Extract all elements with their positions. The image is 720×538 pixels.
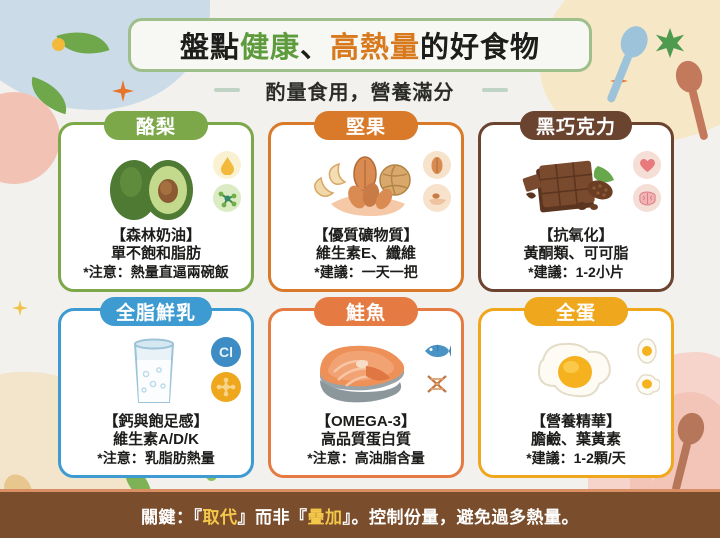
card-line-main: 【優質礦物質】 bbox=[313, 227, 418, 245]
card-whole-milk[interactable]: 全脂鮮乳 Cl bbox=[58, 308, 254, 478]
card-art-avocado bbox=[61, 149, 251, 223]
page-title: 盤點健康、高熱量的好食物 bbox=[180, 24, 540, 66]
card-icons-whole-egg bbox=[633, 337, 661, 398]
title-banner: 盤點健康、高熱量的好食物 bbox=[128, 18, 592, 72]
card-icons-dark-chocolate bbox=[633, 151, 661, 212]
card-icons-avocado bbox=[213, 151, 241, 212]
dna-icon bbox=[423, 370, 451, 398]
footer-part-3: 』而非『 bbox=[238, 508, 308, 527]
almond-icon bbox=[423, 151, 451, 179]
footer-message: 關鍵：『取代』而非『疊加』。控制份量，避免過多熱量。 bbox=[141, 503, 579, 528]
card-badge-salmon: 鮭魚 bbox=[314, 297, 418, 326]
card-art-whole-egg bbox=[481, 335, 671, 409]
card-text-nuts: 【優質礦物質】 維生素E、纖維 *建議：一天一把 bbox=[313, 227, 418, 281]
molecule-icon bbox=[213, 184, 241, 212]
salmon-steak-illustration bbox=[304, 336, 428, 408]
card-text-whole-egg: 【營養精華】 膽鹼、葉黃素 *建議：1-2顆/天 bbox=[526, 413, 626, 467]
cl-symbol-label: Cl bbox=[219, 344, 233, 360]
card-line-note: *注意：熱量直逼兩碗飯 bbox=[83, 264, 228, 281]
title-part-5: 的好食物 bbox=[420, 32, 540, 64]
card-line-note: *建議：1-2顆/天 bbox=[526, 450, 626, 467]
chocolate-bar-illustration bbox=[514, 150, 638, 222]
card-text-avocado: 【森林奶油】 單不飽和脂肪 *注意：熱量直逼兩碗飯 bbox=[83, 227, 228, 281]
card-line-sub: 高品質蛋白質 bbox=[307, 431, 424, 449]
card-line-note: *建議：1-2小片 bbox=[523, 264, 628, 281]
card-art-whole-milk: Cl bbox=[61, 335, 251, 409]
card-salmon[interactable]: 鮭魚 bbox=[268, 308, 464, 478]
card-line-note: *建議：一天一把 bbox=[313, 264, 418, 281]
brain-icon bbox=[633, 184, 661, 212]
card-art-nuts bbox=[271, 149, 461, 223]
heart-icon bbox=[633, 151, 661, 179]
card-line-main: 【抗氧化】 bbox=[523, 227, 628, 245]
fish-icon bbox=[423, 337, 451, 365]
star-icon bbox=[12, 300, 28, 316]
card-line-sub: 維生素A/D/K bbox=[97, 431, 214, 449]
card-nuts[interactable]: 堅果 bbox=[268, 122, 464, 292]
footer-part-5: 』。控制份量，避免過多熱量。 bbox=[343, 508, 580, 527]
card-line-sub: 黃酮類、可可脂 bbox=[523, 245, 628, 263]
title-part-3: 、 bbox=[300, 32, 330, 64]
oil-drop-icon bbox=[213, 151, 241, 179]
milk-glass-illustration bbox=[101, 336, 211, 408]
card-icons-nuts bbox=[423, 151, 451, 212]
card-line-note: *注意：乳脂肪熱量 bbox=[97, 450, 214, 467]
cl-element-icon: Cl bbox=[211, 337, 241, 367]
card-line-main: 【鈣與飽足感】 bbox=[97, 413, 214, 431]
card-line-sub: 單不飽和脂肪 bbox=[83, 245, 228, 263]
avocado-illustration bbox=[98, 150, 214, 222]
pink-circle-decoration bbox=[0, 92, 60, 184]
title-part-4: 高熱量 bbox=[330, 32, 420, 64]
card-line-main: 【營養精華】 bbox=[526, 413, 626, 431]
molecule-icon bbox=[211, 372, 241, 402]
card-badge-dark-chocolate: 黑巧克力 bbox=[520, 111, 632, 140]
card-avocado[interactable]: 酪梨 bbox=[58, 122, 254, 292]
card-whole-egg[interactable]: 全蛋 bbox=[478, 308, 674, 478]
fried-egg-illustration bbox=[521, 336, 631, 408]
food-card-grid: 酪梨 bbox=[58, 122, 668, 478]
boiled-egg-icon bbox=[633, 337, 661, 365]
footer-part-1: 關鍵：『 bbox=[141, 508, 203, 527]
card-art-dark-chocolate bbox=[481, 149, 671, 223]
card-text-salmon: 【OMEGA-3】 高品質蛋白質 *注意：高油脂含量 bbox=[307, 413, 424, 467]
hand-with-nuts-icon bbox=[423, 184, 451, 212]
infographic-page: 盤點健康、高熱量的好食物 酌量食用，營養滿分 酪梨 bbox=[0, 0, 720, 538]
page-subtitle: 酌量食用，營養滿分 bbox=[0, 76, 720, 105]
card-line-sub: 維生素E、纖維 bbox=[313, 245, 418, 263]
card-line-sub: 膽鹼、葉黃素 bbox=[526, 431, 626, 449]
card-dark-chocolate[interactable]: 黑巧克力 bbox=[478, 122, 674, 292]
title-part-1: 盤點 bbox=[180, 32, 240, 64]
card-badge-nuts: 堅果 bbox=[314, 111, 418, 140]
footer-part-2: 取代 bbox=[203, 508, 238, 527]
card-icons-whole-milk: Cl bbox=[211, 337, 241, 402]
mixed-nuts-illustration bbox=[305, 150, 427, 222]
card-badge-whole-milk: 全脂鮮乳 bbox=[100, 297, 212, 326]
leaf-icon bbox=[56, 22, 109, 65]
card-line-main: 【OMEGA-3】 bbox=[307, 413, 424, 431]
title-part-2: 健康 bbox=[240, 32, 300, 64]
card-text-dark-chocolate: 【抗氧化】 黃酮類、可可脂 *建議：1-2小片 bbox=[523, 227, 628, 281]
six-point-star-icon bbox=[655, 28, 685, 58]
yellow-dot-decoration bbox=[52, 38, 65, 51]
card-badge-whole-egg: 全蛋 bbox=[524, 297, 628, 326]
card-art-salmon bbox=[271, 335, 461, 409]
footer-part-4: 疊加 bbox=[308, 508, 343, 527]
footer-bar: 關鍵：『取代』而非『疊加』。控制份量，避免過多熱量。 bbox=[0, 492, 720, 538]
card-line-note: *注意：高油脂含量 bbox=[307, 450, 424, 467]
card-badge-avocado: 酪梨 bbox=[104, 111, 208, 140]
card-text-whole-milk: 【鈣與飽足感】 維生素A/D/K *注意：乳脂肪熱量 bbox=[97, 413, 214, 467]
card-icons-salmon bbox=[423, 337, 451, 398]
card-line-main: 【森林奶油】 bbox=[83, 227, 228, 245]
small-fried-egg-icon bbox=[633, 370, 661, 398]
